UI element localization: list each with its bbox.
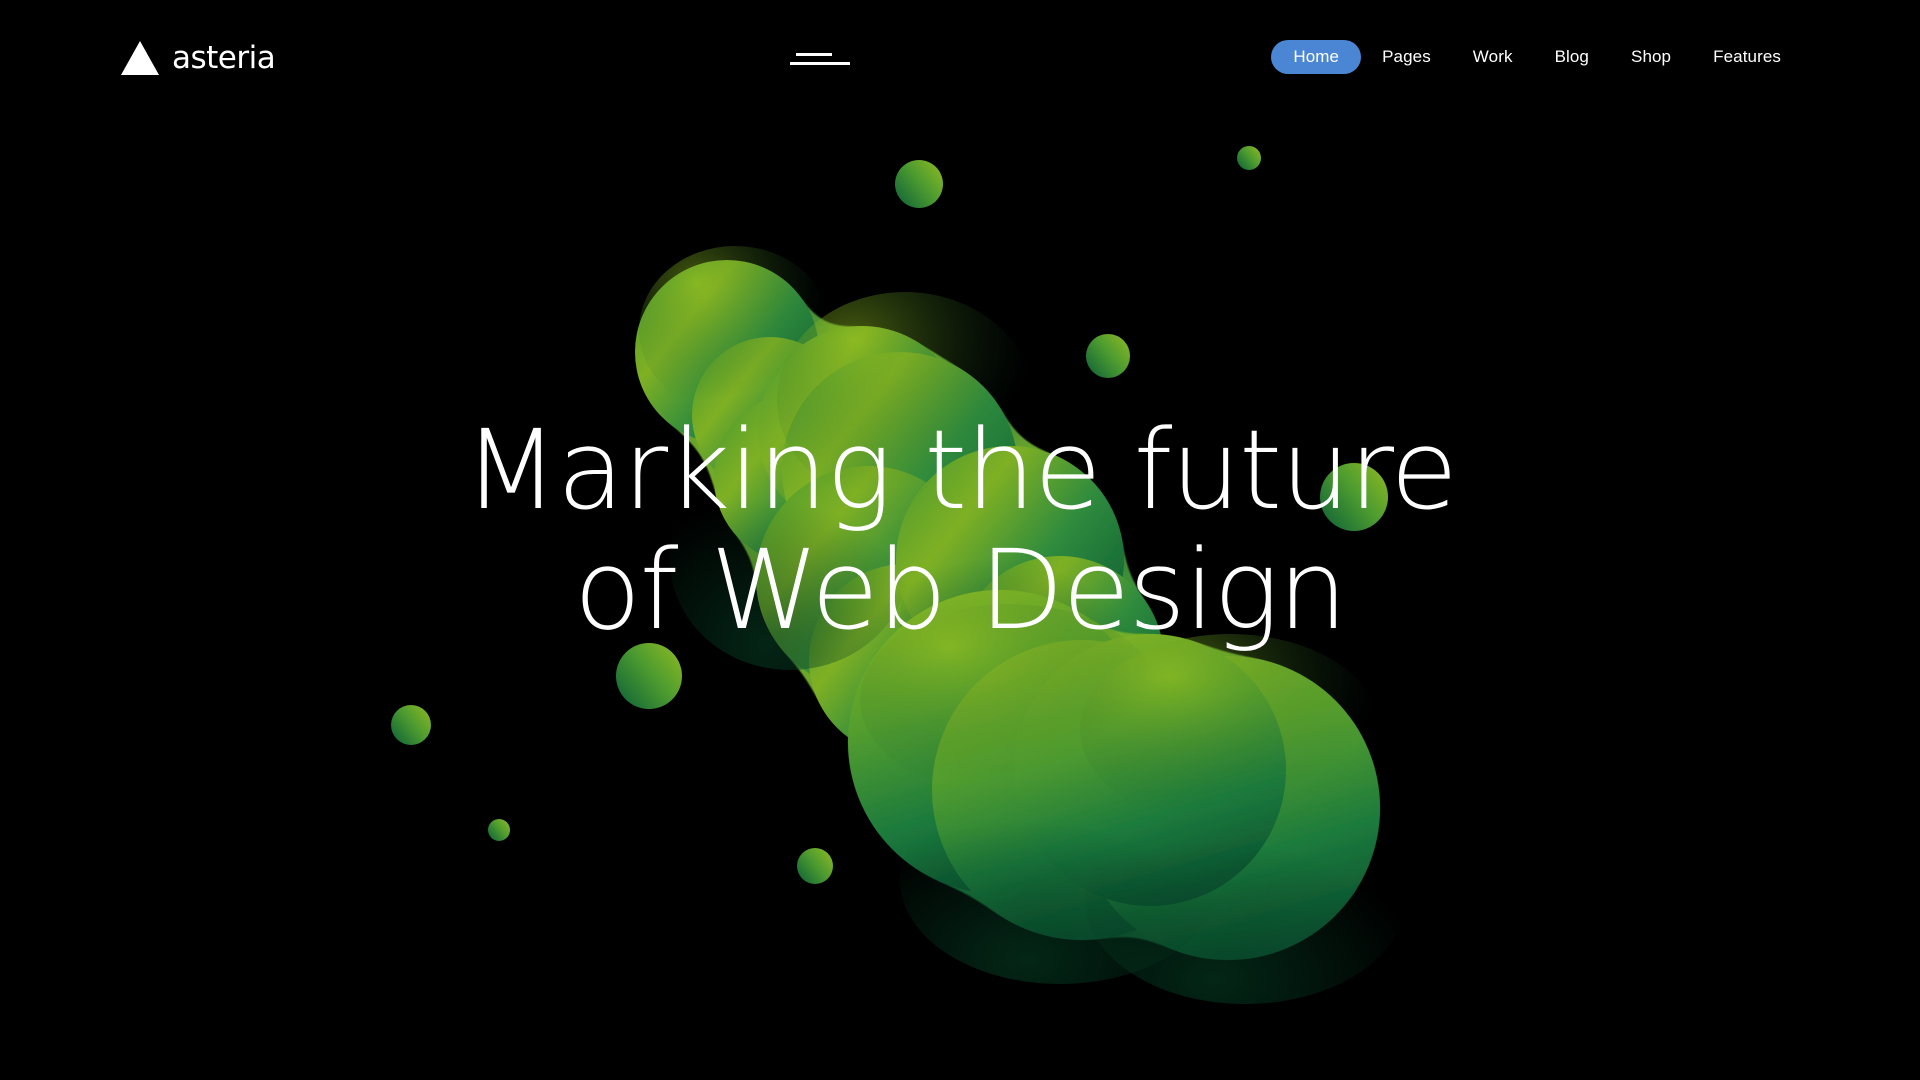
menu-bar-bottom <box>790 62 850 65</box>
sphere-2 <box>1237 146 1261 170</box>
triangle-icon <box>120 40 160 76</box>
sphere-8 <box>797 848 833 884</box>
nav-item-blog[interactable]: Blog <box>1534 40 1610 74</box>
hamburger-menu-icon[interactable] <box>790 48 850 70</box>
sphere-1 <box>895 160 943 208</box>
menu-bar-top <box>796 53 832 56</box>
sphere-6 <box>391 705 431 745</box>
hero-stage: Marking the future of Web Design asteria… <box>0 0 1920 1080</box>
sphere-3 <box>1086 334 1130 378</box>
nav-item-home[interactable]: Home <box>1271 40 1361 74</box>
site-header: asteria Home Pages Work Blog Shop Featur… <box>0 0 1920 120</box>
main-nav: Home Pages Work Blog Shop Features <box>1271 40 1802 74</box>
sphere-5 <box>616 643 682 709</box>
nav-item-work[interactable]: Work <box>1452 40 1534 74</box>
sphere-7 <box>488 819 510 841</box>
blob-artwork <box>0 0 1920 1080</box>
sphere-4 <box>1320 463 1388 531</box>
brand-name: asteria <box>172 43 275 74</box>
brand-logo[interactable]: asteria <box>120 40 275 76</box>
nav-item-shop[interactable]: Shop <box>1610 40 1692 74</box>
nav-item-features[interactable]: Features <box>1692 40 1802 74</box>
nav-item-pages[interactable]: Pages <box>1361 40 1452 74</box>
